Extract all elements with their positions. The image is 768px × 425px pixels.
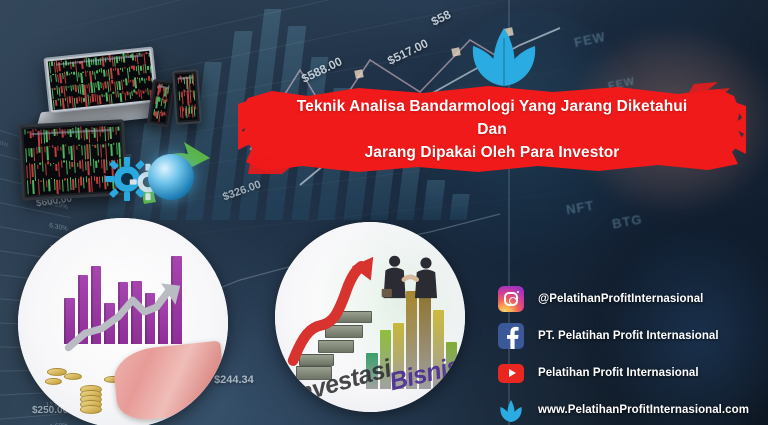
title-line-3: Jarang Dipakai Oleh Para Investor [365,141,620,164]
title-text-block: Teknik Analisa Bandarmologi Yang Jarang … [238,82,746,174]
youtube-icon[interactable] [498,364,524,383]
instagram-icon[interactable] [498,286,524,312]
trend-arrow-icon [52,281,199,352]
laptop-trading-terminal [43,46,158,113]
social-row-website[interactable]: www.PelatihanProfitInternasional.com [498,394,764,425]
purple-bar-chart-money-photo [18,218,228,425]
promo-banner-image: Grow10.20%28.20%6.30%7.80%30.40%28.80%4.… [0,0,768,425]
title-line-1: Teknik Analisa Bandarmologi Yang Jarang … [297,95,688,118]
lotus-logo [465,18,543,88]
social-row-instagram[interactable]: @PelatihanProfitInternasional [498,283,764,315]
smartphone-trading-2 [172,69,202,125]
social-links-list: @PelatihanProfitInternasional PT. Pelati… [498,283,764,425]
trading-devices-cluster [8,26,248,211]
investment-business-photo: Investasi Bisnis [275,222,465,412]
website-url: www.PelatihanProfitInternasional.com [538,404,749,416]
title-line-2: Dan [477,118,507,141]
facebook-page-name: PT. Pelatihan Profit Internasional [538,330,719,342]
youtube-channel-name: Pelatihan Profit Internasional [538,367,699,379]
lotus-icon[interactable] [498,397,524,423]
social-row-youtube[interactable]: Pelatihan Profit Internasional [498,357,764,389]
globe-icon [148,154,194,200]
title-banner: Teknik Analisa Bandarmologi Yang Jarang … [238,82,746,174]
facebook-icon[interactable] [498,323,524,349]
instagram-handle: @PelatihanProfitInternasional [538,293,703,305]
social-row-facebook[interactable]: PT. Pelatihan Profit Internasional [498,320,764,352]
handshake-businessmen-icon [378,252,443,317]
